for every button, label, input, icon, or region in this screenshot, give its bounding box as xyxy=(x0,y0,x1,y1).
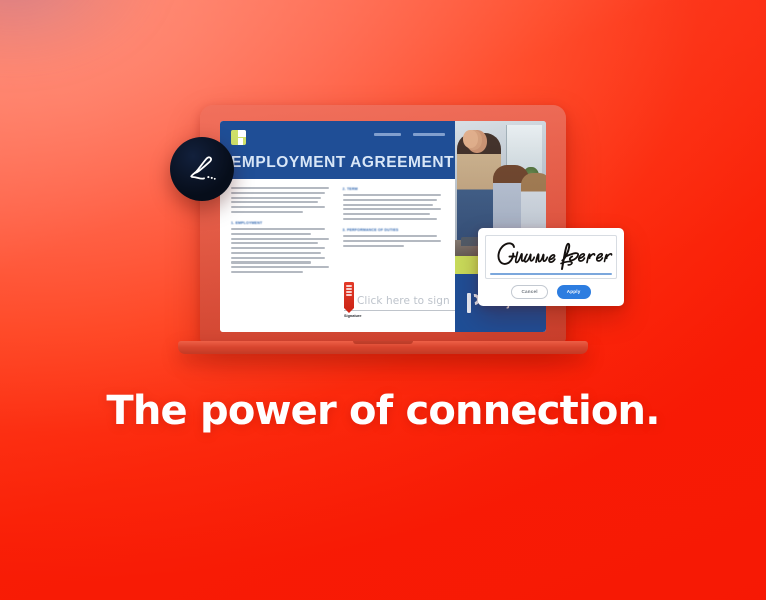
section-heading-performance: 3. PERFORMANCE OF DUTIES xyxy=(343,228,446,232)
signature-field-label: Signature xyxy=(344,314,456,318)
signature-modal-actions: Cancel Apply xyxy=(485,285,617,299)
background-corner-shade xyxy=(0,0,260,120)
document-intro-paragraph xyxy=(231,187,334,213)
document-logo-icon xyxy=(231,130,246,145)
signature-pen-badge xyxy=(170,137,234,201)
document-performance-paragraph xyxy=(343,235,446,247)
signature-underline xyxy=(490,273,612,275)
signature-rule xyxy=(344,310,456,311)
sign-here-tag-icon[interactable] xyxy=(344,282,354,308)
document-main-area: EMPLOYMENT AGREEMENT 1. EMPLOYMENT xyxy=(220,121,455,332)
signature-canvas[interactable] xyxy=(485,235,617,279)
click-here-to-sign-label[interactable]: Click here to sign xyxy=(357,295,450,308)
cancel-button[interactable]: Cancel xyxy=(511,285,547,299)
laptop-base xyxy=(178,341,588,354)
document-signature-field[interactable]: Click here to sign Signature xyxy=(344,282,456,318)
signature-ink-icon xyxy=(491,238,617,272)
document-header: EMPLOYMENT AGREEMENT xyxy=(220,121,455,179)
apply-button[interactable]: Apply xyxy=(557,285,591,299)
document-column-left: 1. EMPLOYMENT xyxy=(231,187,334,281)
laptop-lid: EMPLOYMENT AGREEMENT 1. EMPLOYMENT xyxy=(200,105,566,343)
document-column-right: 2. TERM 3. PERFORMANCE OF DUTIES xyxy=(343,187,446,281)
handwritten-signature xyxy=(491,238,617,272)
promo-banner: EMPLOYMENT AGREEMENT 1. EMPLOYMENT xyxy=(0,0,766,600)
signature-pen-icon xyxy=(185,152,219,186)
laptop-base-notch xyxy=(353,341,413,344)
document-meta-date xyxy=(374,133,401,136)
page-headline: The power of connection. xyxy=(0,388,766,434)
document-employment-paragraph xyxy=(231,228,334,273)
document-meta-reference xyxy=(413,133,445,136)
document-term-paragraph xyxy=(343,194,446,220)
section-heading-employment: 1. EMPLOYMENT xyxy=(231,221,334,225)
document-header-meta xyxy=(374,133,445,136)
signature-cta-row[interactable]: Click here to sign xyxy=(344,282,456,308)
document-title: EMPLOYMENT AGREEMENT xyxy=(231,154,454,172)
signature-modal[interactable]: Cancel Apply xyxy=(478,228,624,306)
document-body: 1. EMPLOYMENT 2. TERM xyxy=(220,179,455,281)
section-heading-term: 2. TERM xyxy=(343,187,446,191)
